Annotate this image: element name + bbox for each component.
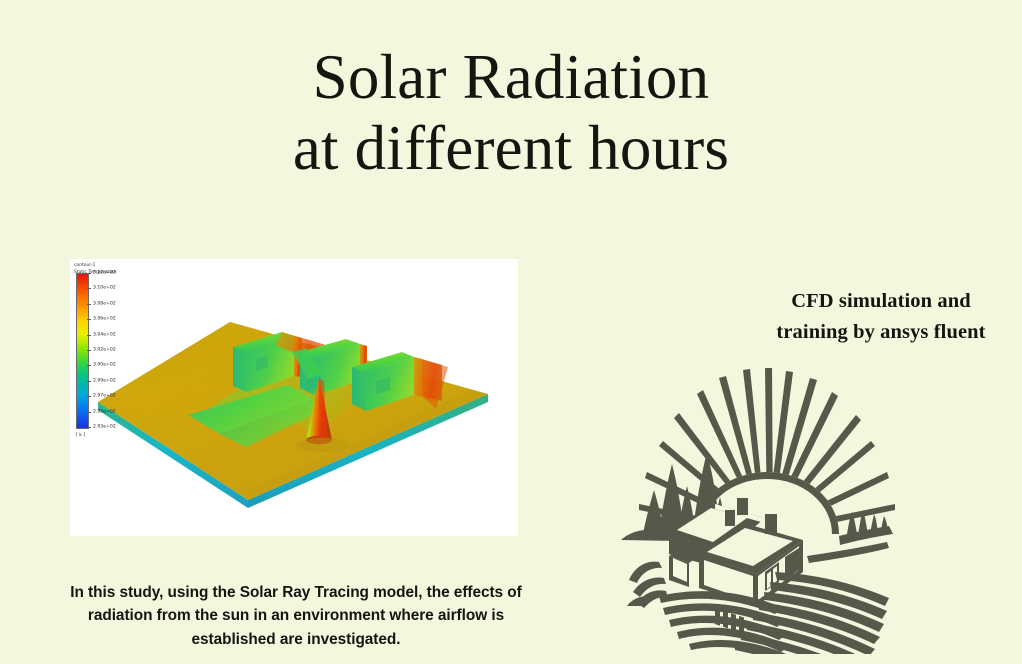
colorbar-tick-label: 3.10e+02	[93, 286, 116, 291]
colorbar-tick	[87, 396, 91, 397]
colorbar: [ k ] 3.12e+023.10e+023.08e+023.06e+023.…	[76, 273, 142, 435]
colorbar-tick	[87, 273, 91, 274]
poster-canvas: Solar Radiation at different hours	[0, 0, 1022, 664]
caption-line-3: established are investigated.	[16, 628, 576, 651]
colorbar-gradient	[76, 273, 89, 429]
colorbar-tick-label: 3.06e+02	[93, 317, 116, 322]
caption-line-2: radiation from the sun in an environment…	[16, 604, 576, 627]
colorbar-tick-label: 3.00e+02	[93, 363, 116, 368]
colorbar-tick	[87, 304, 91, 305]
cfd-contour-panel: contour-1 Static Temperature [ k ] 3.12e…	[70, 259, 518, 536]
title-line-1: Solar Radiation	[0, 42, 1022, 113]
colorbar-tick-label: 2.93e+02	[93, 425, 116, 430]
legend-title-line-1: contour-1	[74, 263, 146, 270]
colorbar-tick	[87, 412, 91, 413]
colorbar-tick-label: 2.97e+02	[93, 394, 116, 399]
colorbar-tick	[87, 427, 91, 428]
colorbar-tick-label: 2.95e+02	[93, 409, 116, 414]
page-title: Solar Radiation at different hours	[0, 42, 1022, 183]
farm-sunrise-logo	[607, 358, 903, 654]
colorbar-tick-label: 3.12e+02	[93, 271, 116, 276]
colorbar-tick-label: 3.04e+02	[93, 332, 116, 337]
colorbar-tick	[87, 381, 91, 382]
service-heading-line-2: training by ansys fluent	[742, 317, 1020, 348]
colorbar-tick	[87, 335, 91, 336]
colorbar-tick-label: 2.99e+02	[93, 378, 116, 383]
service-heading-line-1: CFD simulation and	[742, 286, 1020, 317]
colorbar-tick-label: 3.08e+02	[93, 301, 116, 306]
colorbar-tick	[87, 350, 91, 351]
study-caption: In this study, using the Solar Ray Traci…	[16, 581, 576, 651]
colorbar-tick-label: 3.02e+02	[93, 348, 116, 353]
colorbar-tick	[87, 365, 91, 366]
colorbar-unit: [ k ]	[76, 433, 85, 438]
colorbar-tick	[87, 319, 91, 320]
caption-line-1: In this study, using the Solar Ray Traci…	[16, 581, 576, 604]
title-line-2: at different hours	[0, 113, 1022, 184]
service-heading: CFD simulation and training by ansys flu…	[742, 286, 1020, 348]
colorbar-tick	[87, 288, 91, 289]
